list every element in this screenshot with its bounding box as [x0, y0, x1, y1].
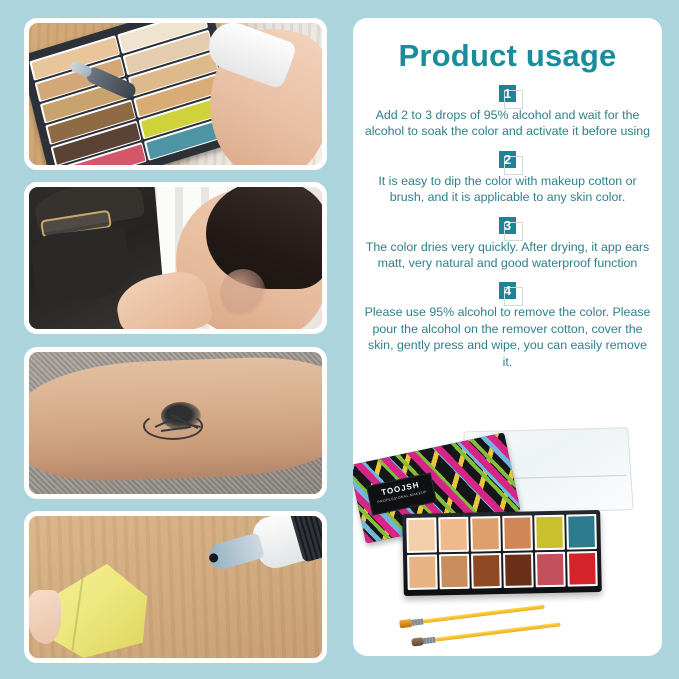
photo-tattoo-on-forearm — [24, 347, 327, 499]
fingers — [29, 590, 61, 644]
image-corner-mask — [616, 616, 662, 656]
bottle-tip — [206, 532, 265, 572]
pan — [438, 517, 469, 553]
brush-ferrule — [422, 637, 436, 645]
step-3: 3 The color dries very quickly. After dr… — [353, 217, 662, 272]
product-usage-infographic: Product usage 1 Add 2 to 3 drops of 95% … — [0, 0, 679, 679]
step-2: 2 It is easy to dip the color with makeu… — [353, 151, 662, 206]
pan — [406, 517, 437, 553]
tattoo-artwork — [137, 400, 225, 442]
pan — [503, 552, 534, 588]
pan — [534, 515, 565, 551]
photo-sponge-and-alcohol-bottle — [24, 511, 327, 663]
product-image: TOOJSH PROFESSIONAL MAKEUP — [353, 426, 662, 656]
step-3-badge-wrap: 3 — [353, 217, 662, 234]
round-brush — [435, 622, 561, 641]
step-3-text: The color dries very quickly. After dryi… — [353, 239, 662, 272]
step-1: 1 Add 2 to 3 drops of 95% alcohol and wa… — [353, 85, 662, 140]
pan — [535, 552, 566, 588]
step-number-badge: 3 — [499, 217, 516, 234]
brush-ferrule — [410, 618, 424, 626]
photo-column — [24, 18, 327, 663]
pan — [470, 516, 501, 552]
photo-2-content — [29, 187, 322, 329]
pan — [566, 514, 597, 550]
step-4-text: Please use 95% alcohol to remove the col… — [353, 304, 662, 370]
pan — [502, 515, 533, 551]
step-4: 4 Please use 95% alcohol to remove the c… — [353, 282, 662, 370]
step-4-badge-wrap: 4 — [353, 282, 662, 299]
photo-4-content — [29, 516, 322, 658]
prosthetic-wound-makeup — [220, 269, 266, 317]
palette-tray — [402, 510, 602, 596]
instructions-panel: Product usage 1 Add 2 to 3 drops of 95% … — [353, 18, 662, 656]
photo-3-content — [29, 352, 322, 494]
pan — [471, 553, 502, 589]
brush-bristles — [411, 637, 424, 646]
palette-pan-grid — [406, 514, 597, 590]
step-2-badge-wrap: 2 — [353, 151, 662, 168]
step-number-badge: 2 — [499, 151, 516, 168]
photo-palette-with-alcohol-dropper — [24, 18, 327, 170]
step-2-text: It is easy to dip the color with makeup … — [353, 173, 662, 206]
step-1-badge-wrap: 1 — [353, 85, 662, 102]
step-number-badge: 1 — [499, 85, 516, 102]
pan — [567, 551, 598, 587]
step-1-text: Add 2 to 3 drops of 95% alcohol and wait… — [353, 107, 662, 140]
photo-1-content — [29, 23, 322, 165]
pan — [439, 554, 470, 590]
photo-artist-applying-makeup — [24, 182, 327, 334]
flat-brush — [423, 605, 545, 624]
brush-bristles — [399, 619, 412, 628]
page-title: Product usage — [353, 38, 662, 74]
step-number-badge: 4 — [499, 282, 516, 299]
pan — [407, 554, 438, 590]
